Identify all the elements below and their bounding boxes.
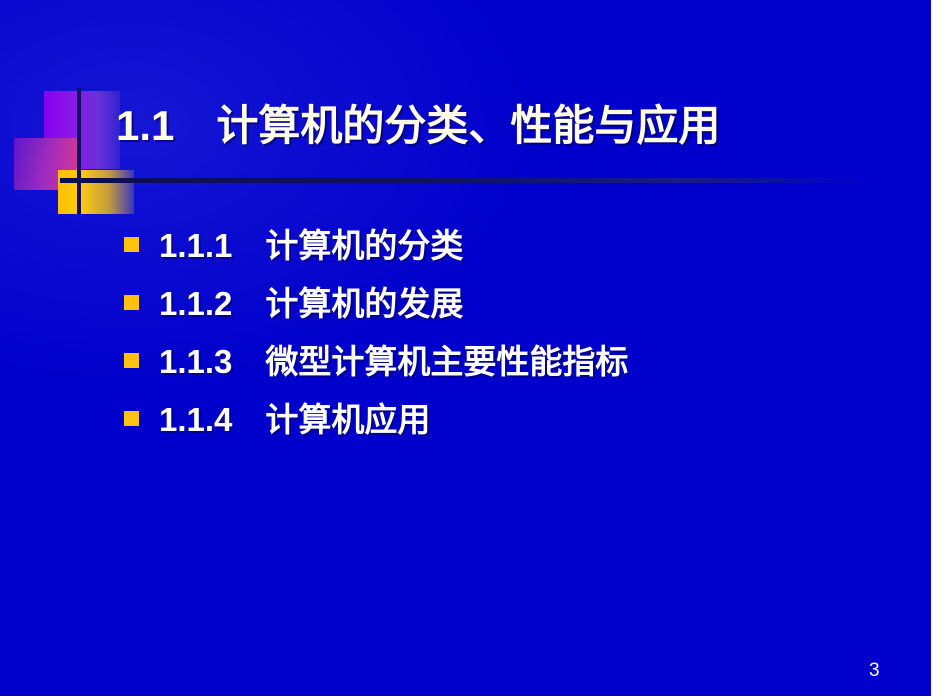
square-bullet-icon xyxy=(124,353,139,368)
title-underline-rule xyxy=(60,178,870,183)
presentation-slide: 1.1 计算机的分类、性能与应用 1.1.1 计算机的分类 1.1.2 计算机的… xyxy=(0,0,931,696)
list-item[interactable]: 1.1.2 计算机的发展 xyxy=(124,272,904,330)
list-item-label: 1.1.4 计算机应用 xyxy=(159,393,430,441)
square-bullet-icon xyxy=(124,237,139,252)
list-item[interactable]: 1.1.3 微型计算机主要性能指标 xyxy=(124,330,904,388)
slide-bullet-list: 1.1.1 计算机的分类 1.1.2 计算机的发展 1.1.3 微型计算机主要性… xyxy=(124,214,904,446)
list-item-label: 1.1.1 计算机的分类 xyxy=(159,219,463,267)
slide-title: 1.1 计算机的分类、性能与应用 xyxy=(116,104,876,148)
deco-vertical-rule xyxy=(77,88,81,214)
list-item[interactable]: 1.1.4 计算机应用 xyxy=(124,388,904,446)
square-bullet-icon xyxy=(124,295,139,310)
page-number: 3 xyxy=(869,660,880,682)
square-bullet-icon xyxy=(124,411,139,426)
list-item-label: 1.1.3 微型计算机主要性能指标 xyxy=(159,335,628,383)
list-item-label: 1.1.2 计算机的发展 xyxy=(159,277,463,325)
list-item[interactable]: 1.1.1 计算机的分类 xyxy=(124,214,904,272)
deco-gold-bar-lower xyxy=(58,184,134,214)
